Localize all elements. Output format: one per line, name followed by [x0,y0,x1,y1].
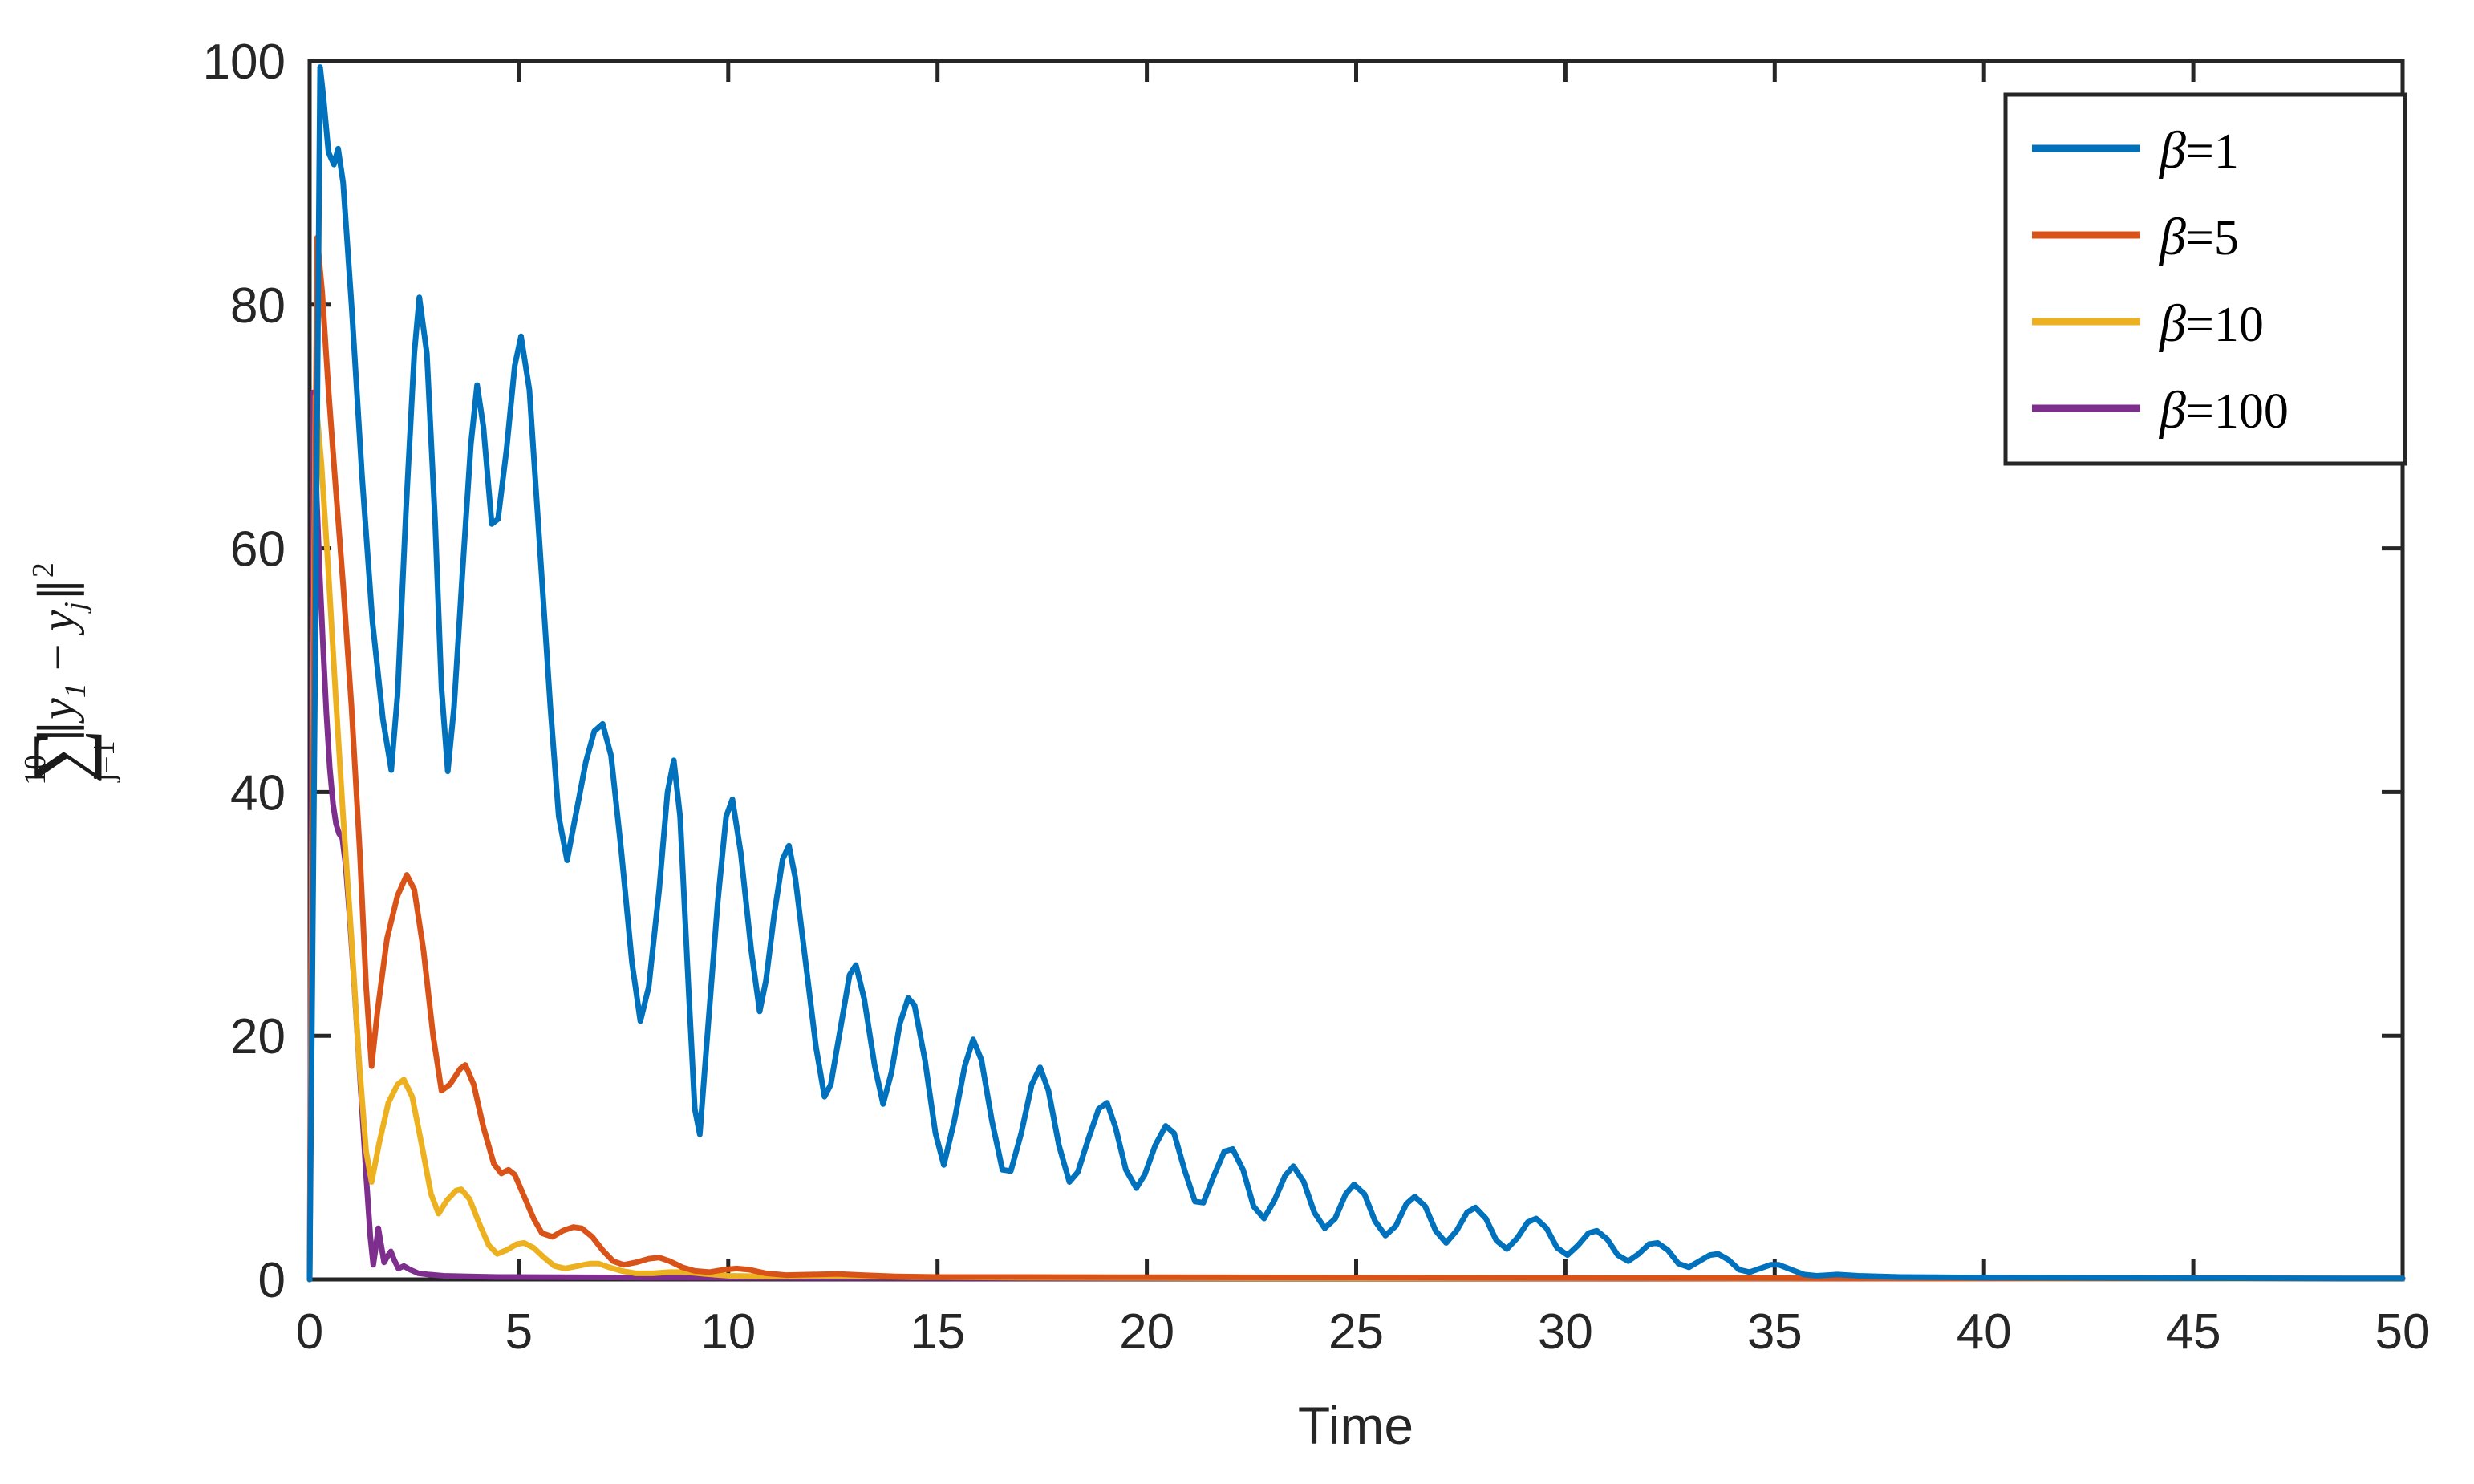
x-tick-label: 25 [1328,1304,1384,1360]
legend: β=1β=5β=10β=100 [2006,95,2405,464]
x-tick-label: 30 [1538,1304,1593,1360]
x-tick-label: 10 [700,1304,756,1360]
y-tick-label: 100 [203,34,286,90]
y-tick-label: 60 [230,522,286,578]
x-tick-label: 5 [505,1304,533,1360]
legend-item-label: β=100 [2158,381,2289,440]
x-tick-label: 15 [910,1304,965,1360]
figure-container: 05101520253035404550 020406080100 Time ∑… [0,0,2474,1484]
legend-item-label: β=10 [2158,294,2264,353]
x-axis-title: Time [1298,1396,1413,1455]
y-tick-label: 40 [230,765,286,821]
x-tick-label: 45 [2166,1304,2221,1360]
legend-item-label: β=1 [2158,121,2239,180]
line-chart: 05101520253035404550 020406080100 Time ∑… [0,0,2474,1484]
legend-item-label: β=5 [2158,208,2239,266]
x-tick-label: 35 [1747,1304,1803,1360]
y-tick-label: 80 [230,278,286,334]
x-tick-label: 20 [1119,1304,1174,1360]
x-tick-label: 40 [1957,1304,2012,1360]
x-tick-label: 0 [296,1304,323,1360]
x-tick-label: 50 [2375,1304,2431,1360]
y-tick-label: 20 [230,1009,286,1064]
y-tick-label: 0 [258,1253,286,1308]
